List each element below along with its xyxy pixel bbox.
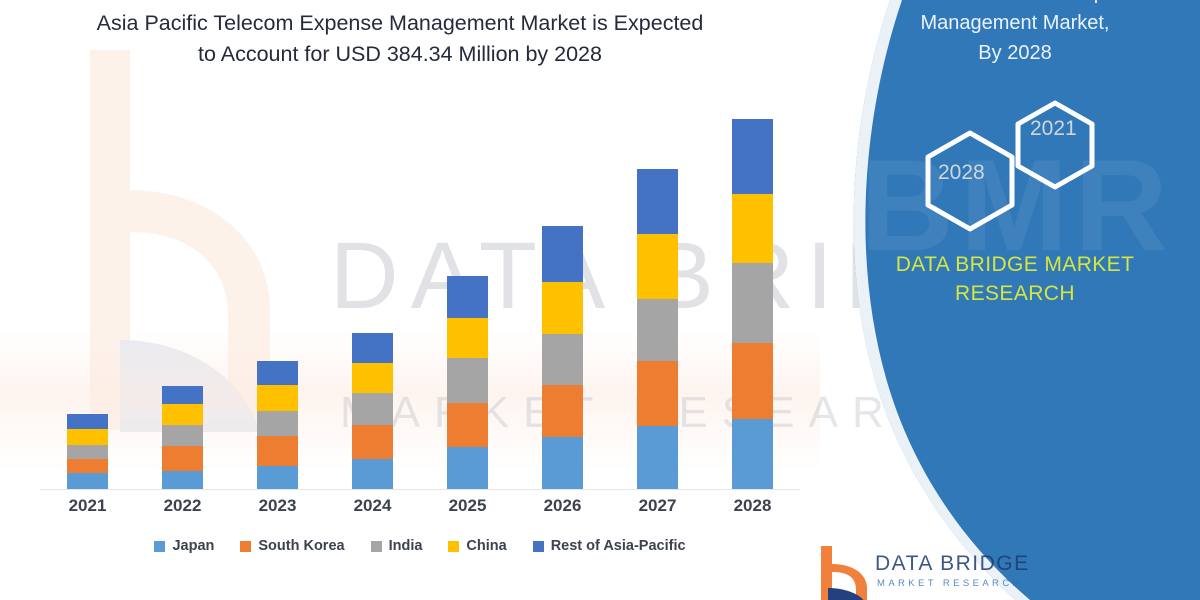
chart-legend: JapanSouth KoreaIndiaChinaRest of Asia-P…	[40, 538, 800, 554]
x-axis-label: 2026	[518, 496, 608, 516]
x-axis-line	[40, 489, 800, 490]
legend-item-japan[interactable]: Japan	[154, 538, 214, 554]
logo-wordmark: DATA BRIDGE	[875, 552, 1030, 576]
panel-title: Asia Pacific Telecom Expense Management …	[840, 0, 1190, 68]
bar-segment-japan	[447, 447, 488, 490]
stacked-bar-2023	[257, 361, 298, 490]
company-logo: DATA BRIDGE MARKET RESEARCH	[815, 544, 1105, 600]
panel-title-line-2: Management Market,	[921, 12, 1110, 34]
x-axis-labels: 20212022202320242025202620272028	[40, 496, 800, 516]
bar-segment-south-korea	[542, 385, 583, 438]
legend-swatch-icon	[533, 541, 544, 552]
bar-segment-india	[67, 445, 108, 459]
bar-segment-india	[162, 425, 203, 445]
bar-segment-rest-of-asia-pacific	[352, 333, 393, 364]
bar-segment-rest-of-asia-pacific	[732, 119, 773, 194]
stacked-bar-chart	[40, 120, 800, 490]
legend-swatch-icon	[154, 541, 165, 552]
bar-segment-rest-of-asia-pacific	[162, 386, 203, 404]
bar-segment-japan	[257, 466, 298, 490]
stacked-bar-2025	[447, 276, 488, 490]
hexagon-2021	[1018, 103, 1092, 187]
bar-column	[518, 120, 608, 490]
bar-segment-rest-of-asia-pacific	[542, 226, 583, 282]
bar-column	[138, 120, 228, 490]
page-title-line-2: to Account for USD 384.34 Million by 202…	[198, 42, 602, 66]
bar-column	[423, 120, 513, 490]
bar-segment-rest-of-asia-pacific	[447, 276, 488, 318]
bar-segment-india	[542, 334, 583, 385]
legend-item-south-korea[interactable]: South Korea	[240, 538, 344, 554]
bar-segment-south-korea	[447, 403, 488, 446]
bar-segment-india	[637, 299, 678, 360]
bar-segment-china	[257, 385, 298, 412]
legend-swatch-icon	[371, 541, 382, 552]
legend-label: India	[389, 538, 423, 554]
bar-segment-japan	[637, 426, 678, 490]
x-axis-label: 2022	[138, 496, 228, 516]
bar-segment-japan	[732, 419, 773, 490]
x-axis-label: 2024	[328, 496, 418, 516]
bar-segment-south-korea	[67, 459, 108, 474]
bar-column	[43, 120, 133, 490]
bar-segment-china	[162, 404, 203, 425]
stacked-bar-2024	[352, 333, 393, 490]
bar-segment-japan	[67, 473, 108, 490]
bar-segment-south-korea	[257, 436, 298, 466]
x-axis-label: 2021	[43, 496, 133, 516]
infographic-root: DATA BRIDGE MARKET RESEARCH Asia Pacific…	[0, 0, 1200, 600]
hexagon-2028-label: 2028	[938, 161, 985, 185]
bar-column	[613, 120, 703, 490]
bar-segment-india	[447, 358, 488, 403]
legend-item-india[interactable]: India	[371, 538, 423, 554]
bar-segment-india	[352, 393, 393, 425]
x-axis-label: 2025	[423, 496, 513, 516]
brand-line-1: DATA BRIDGE MARKET	[896, 253, 1135, 276]
bar-segment-china	[732, 194, 773, 263]
logo-mark-icon	[815, 544, 875, 600]
x-axis-label: 2023	[233, 496, 323, 516]
hexagon-2021-label: 2021	[1030, 117, 1077, 141]
legend-swatch-icon	[240, 541, 251, 552]
bar-segment-south-korea	[352, 425, 393, 458]
legend-swatch-icon	[448, 541, 459, 552]
stacked-bar-2021	[67, 414, 108, 490]
panel-title-line-1: Asia Pacific Telecom Expense	[882, 0, 1148, 4]
bar-segment-india	[732, 263, 773, 343]
bar-segment-india	[257, 411, 298, 436]
bar-segment-china	[542, 282, 583, 334]
bar-column	[233, 120, 323, 490]
bar-segment-japan	[542, 437, 583, 490]
stacked-bar-2027	[637, 169, 678, 490]
legend-label: Japan	[172, 538, 214, 554]
stacked-bar-2022	[162, 386, 203, 490]
hexagon-group: 2028 2021	[900, 95, 1190, 240]
bar-segment-rest-of-asia-pacific	[257, 361, 298, 385]
legend-label: China	[466, 538, 506, 554]
legend-label: Rest of Asia-Pacific	[551, 538, 686, 554]
stacked-bar-2026	[542, 226, 583, 490]
chart-plot-area	[40, 120, 800, 490]
legend-label: South Korea	[258, 538, 344, 554]
bar-column	[328, 120, 418, 490]
brand-line-2: RESEARCH	[955, 282, 1075, 305]
legend-item-rest-of-asia-pacific[interactable]: Rest of Asia-Pacific	[533, 538, 686, 554]
bar-segment-south-korea	[732, 343, 773, 419]
bar-segment-china	[352, 363, 393, 393]
logo-tagline: MARKET RESEARCH	[877, 578, 1023, 589]
panel-title-line-3: By 2028	[978, 42, 1051, 64]
right-panel: DBMR Asia Pacific Telecom Expense Manage…	[780, 0, 1200, 600]
legend-item-china[interactable]: China	[448, 538, 506, 554]
bar-segment-china	[447, 318, 488, 358]
bar-segment-rest-of-asia-pacific	[67, 414, 108, 429]
bar-segment-china	[637, 234, 678, 300]
bar-segment-south-korea	[637, 361, 678, 427]
bar-segment-rest-of-asia-pacific	[637, 169, 678, 234]
bar-segment-south-korea	[162, 446, 203, 471]
brand-name: DATA BRIDGE MARKET RESEARCH	[830, 250, 1200, 308]
bar-segment-japan	[352, 459, 393, 490]
stacked-bar-2028	[732, 119, 773, 490]
page-title-line-1: Asia Pacific Telecom Expense Management …	[97, 11, 704, 35]
page-title: Asia Pacific Telecom Expense Management …	[30, 8, 770, 70]
x-axis-label: 2027	[613, 496, 703, 516]
bar-segment-china	[67, 429, 108, 445]
bar-segment-japan	[162, 471, 203, 490]
